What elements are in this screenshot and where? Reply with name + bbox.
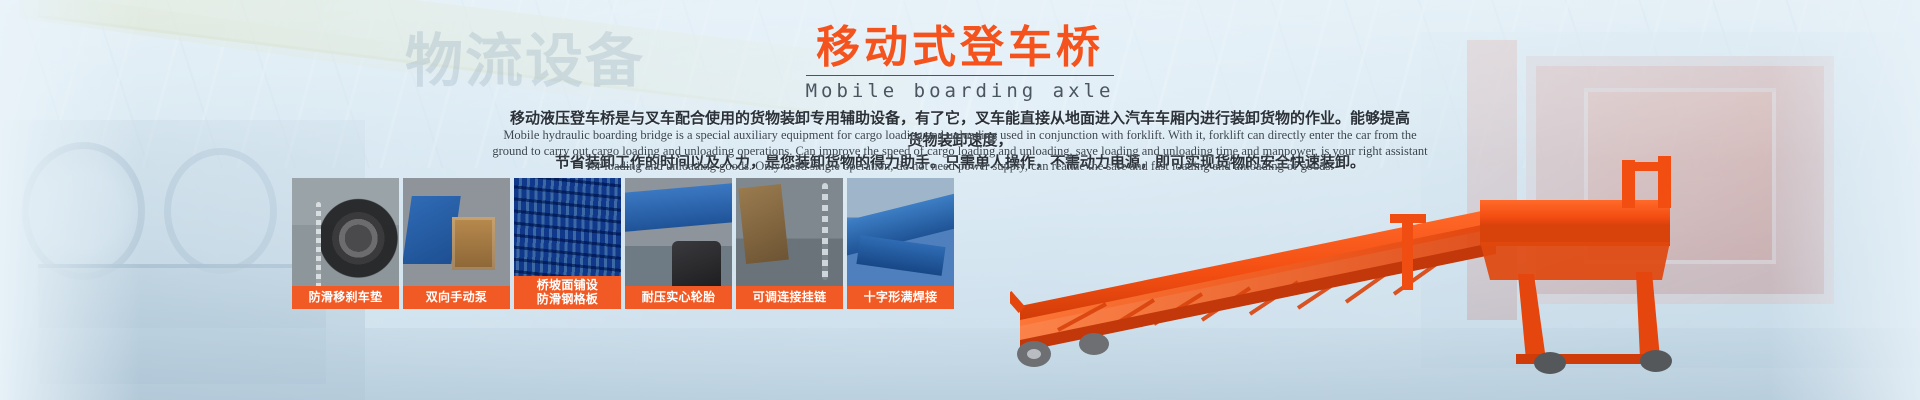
product-banner: 物流设备 移动式登车桥 Mobile boarding axle 移动液压登车桥… (0, 0, 1920, 400)
feature-caption: 十字形满焊接 (847, 286, 954, 309)
feature-caption-line-2: 防滑钢格板 (516, 292, 619, 306)
feature-caption-line-1: 桥坡面铺设 (516, 278, 619, 292)
feature-caption: 耐压实心轮胎 (625, 286, 732, 309)
feature-card-cross-full-weld[interactable]: 十字形满焊接 (847, 178, 954, 309)
feature-card-pressure-solid-tire[interactable]: 耐压实心轮胎 (625, 178, 732, 309)
page-subtitle: Mobile boarding axle (806, 75, 1115, 103)
feature-card-anti-slip-brake-pad[interactable]: 防滑移刹车垫 (292, 178, 399, 309)
feature-card-two-way-manual-pump[interactable]: 双向手动泵 (403, 178, 510, 309)
feature-caption: 防滑移刹车垫 (292, 286, 399, 309)
feature-card-adjustable-link-chain[interactable]: 可调连接挂链 (736, 178, 843, 309)
feature-card-anti-slip-steel-grating[interactable]: 桥坡面铺设 防滑钢格板 (514, 178, 621, 309)
headline-block: 移动式登车桥 Mobile boarding axle (0, 22, 1920, 103)
feature-caption: 双向手动泵 (403, 286, 510, 309)
feature-caption: 可调连接挂链 (736, 286, 843, 309)
page-title: 移动式登车桥 (0, 22, 1920, 74)
feature-thumbnail-strip: 防滑移刹车垫 双向手动泵 桥坡面铺设 防滑钢格板 耐压实心轮胎 可调连接挂链 十… (292, 178, 954, 309)
feature-caption: 桥坡面铺设 防滑钢格板 (514, 276, 621, 309)
description-english: Mobile hydraulic boarding bridge is a sp… (490, 128, 1430, 175)
